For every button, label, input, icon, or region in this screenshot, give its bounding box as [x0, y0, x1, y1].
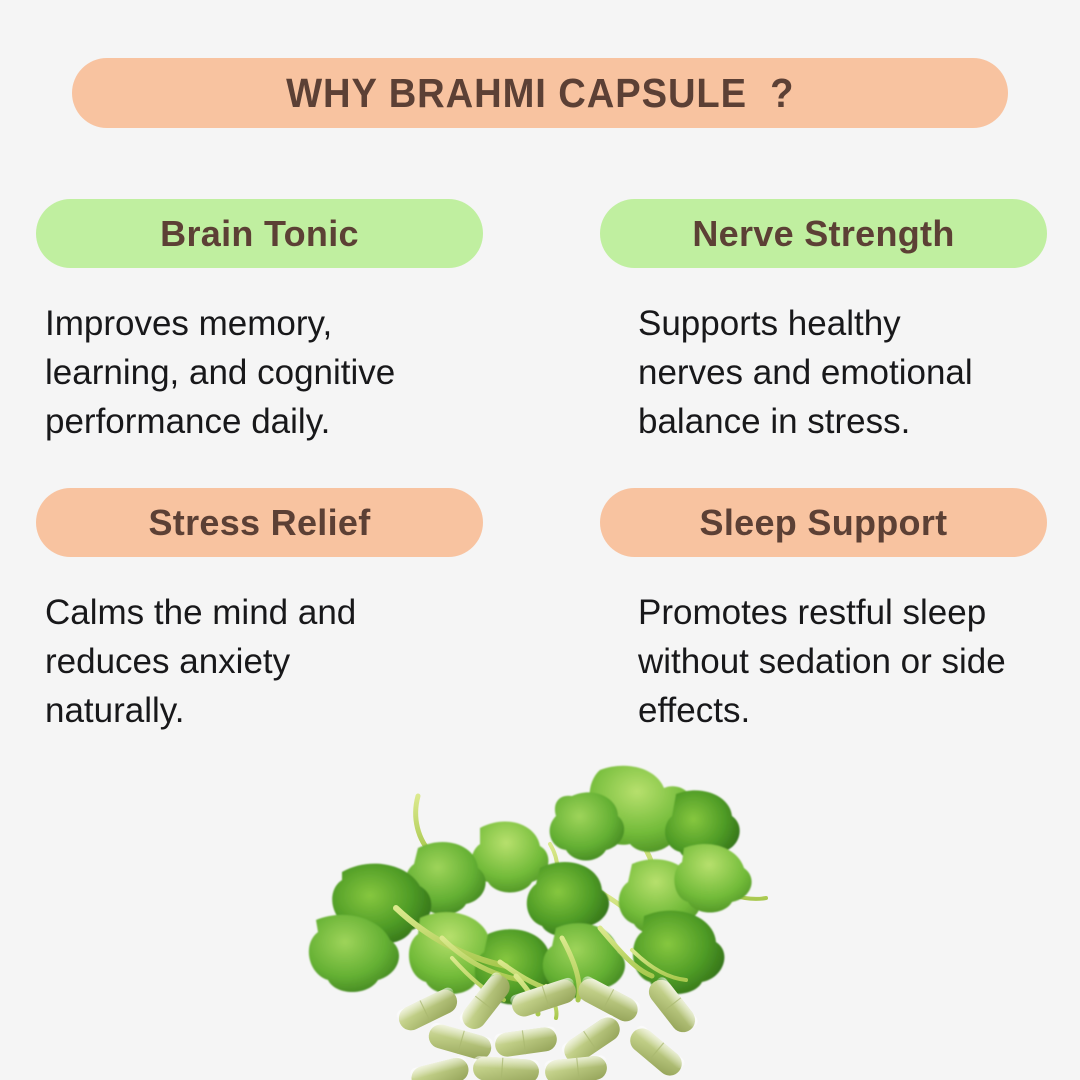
page-title: WHY BRAHMI CAPSULE ? — [286, 70, 794, 117]
feature-card-brain-tonic: Brain Tonic Improves memory, learning, a… — [36, 199, 483, 446]
feature-card-nerve-strength: Nerve Strength Supports healthy nerves a… — [600, 199, 1068, 446]
feature-description: Calms the mind and reduces anxiety natur… — [45, 588, 475, 735]
product-image — [300, 752, 770, 1080]
feature-description: Promotes restful sleep without sedation … — [638, 588, 1068, 735]
feature-description: Supports healthy nerves and emotional ba… — [638, 299, 1068, 446]
feature-title-pill: Sleep Support — [600, 488, 1047, 557]
feature-title: Sleep Support — [700, 502, 948, 544]
page-title-banner: WHY BRAHMI CAPSULE ? — [72, 58, 1008, 128]
feature-title-pill: Nerve Strength — [600, 199, 1047, 268]
feature-card-stress-relief: Stress Relief Calms the mind and reduces… — [36, 488, 483, 735]
feature-title: Nerve Strength — [692, 213, 954, 255]
feature-description: Improves memory, learning, and cognitive… — [45, 299, 475, 446]
feature-title-pill: Brain Tonic — [36, 199, 483, 268]
infographic-root: WHY BRAHMI CAPSULE ? Brain Tonic Improve… — [0, 0, 1080, 1080]
feature-title: Stress Relief — [148, 502, 370, 544]
feature-title: Brain Tonic — [160, 213, 359, 255]
feature-card-sleep-support: Sleep Support Promotes restful sleep wit… — [600, 488, 1068, 735]
feature-title-pill: Stress Relief — [36, 488, 483, 557]
